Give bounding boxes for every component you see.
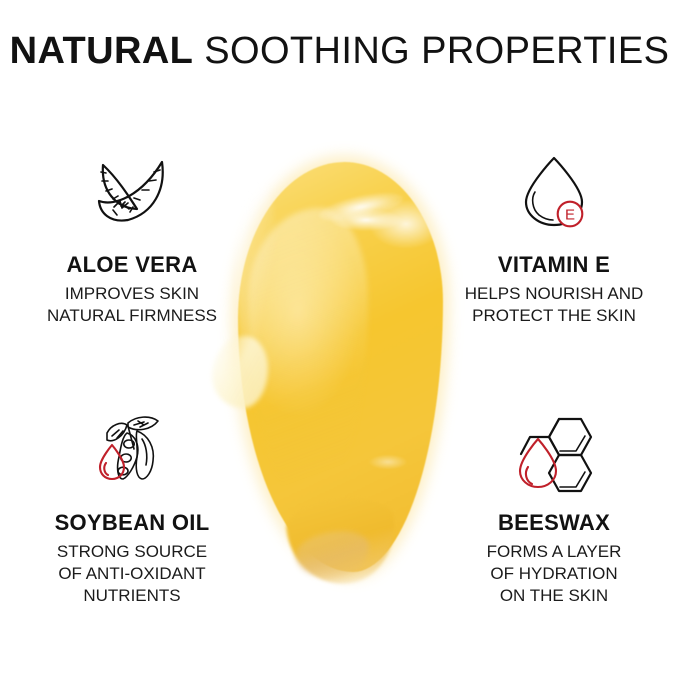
feature-description: HELPS NOURISH AND PROTECT THE SKIN (430, 283, 678, 327)
balm-swatch-body (238, 162, 443, 572)
feature-beeswax: BEESWAX FORMS A LAYER OF HYDRATION ON TH… (430, 408, 678, 607)
feature-description-line: ON THE SKIN (430, 585, 678, 607)
balm-swatch-gloss-highlight (317, 187, 406, 226)
page-title-light: SOOTHING PROPERTIES (204, 30, 669, 72)
infographic-page: NATURAL SOOTHING PROPERTIES (0, 0, 679, 679)
feature-description-line: HELPS NOURISH AND (430, 283, 678, 305)
feature-description-line: IMPROVES SKIN (8, 283, 256, 305)
page-title: NATURAL SOOTHING PROPERTIES (0, 28, 679, 74)
feature-vitamin-e: E VITAMIN E HELPS NOURISH AND PROTECT TH… (430, 150, 678, 327)
droplet-vitamin-e-icon: E (430, 150, 678, 236)
feature-description-line: NUTRIENTS (8, 585, 256, 607)
aloe-leaf-icon (8, 150, 256, 236)
soybean-pod-droplet-icon (8, 408, 256, 494)
feature-description: FORMS A LAYER OF HYDRATION ON THE SKIN (430, 541, 678, 607)
feature-description-line: NATURAL FIRMNESS (8, 305, 256, 327)
feature-description-line: OF HYDRATION (430, 563, 678, 585)
balm-swatch-tail-tip (293, 526, 374, 584)
feature-description-line: FORMS A LAYER (430, 541, 678, 563)
feature-description-line: OF ANTI-OXIDANT (8, 563, 256, 585)
feature-title: BEESWAX (430, 510, 678, 536)
feature-title: SOYBEAN OIL (8, 510, 256, 536)
page-title-bold: NATURAL (10, 30, 194, 72)
balm-swatch-tail (284, 493, 400, 590)
feature-description: STRONG SOURCE OF ANTI-OXIDANT NUTRIENTS (8, 541, 256, 607)
feature-title: VITAMIN E (430, 252, 678, 278)
feature-soybean-oil: SOYBEAN OIL STRONG SOURCE OF ANTI-OXIDAN… (8, 408, 256, 607)
balm-swatch-lobe (248, 208, 368, 508)
feature-aloe-vera: ALOE VERA IMPROVES SKIN NATURAL FIRMNESS (8, 150, 256, 327)
feature-description: IMPROVES SKIN NATURAL FIRMNESS (8, 283, 256, 327)
feature-description-line: STRONG SOURCE (8, 541, 256, 563)
vitamin-e-badge-label: E (565, 207, 575, 224)
honeycomb-droplet-icon (430, 408, 678, 494)
balm-swatch-spill (212, 336, 268, 408)
feature-description-line: PROTECT THE SKIN (430, 305, 678, 327)
feature-title: ALOE VERA (8, 252, 256, 278)
